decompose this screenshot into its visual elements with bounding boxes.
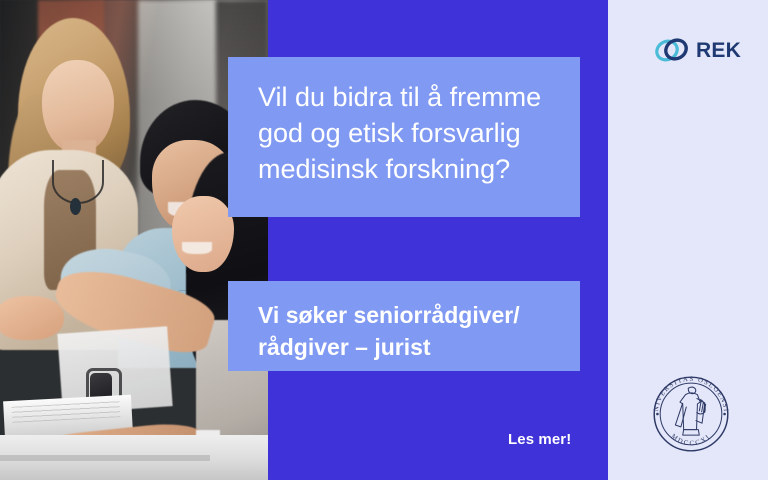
svg-text:UNIVERSITAS OSLOENSIS: UNIVERSITAS OSLOENSIS [645,368,729,413]
uio-seal-icon[interactable]: UNIVERSITAS OSLOENSIS MDCCCXI [645,368,737,460]
headline-line-2: god og etisk forsvarlig [258,115,554,151]
photo-woman-dark-smile [182,242,212,254]
photo-pointing-hand [0,296,64,340]
headline-line-1: Vil du bidra til å fremme [258,79,554,115]
photo-woman-blonde-face [42,60,114,152]
rek-rings-icon [652,30,692,70]
photo-desk-edge [0,455,210,461]
photo-necklace [52,160,104,204]
recruitment-banner: REK UNIVERSITAS OSLOENSIS MDCCCXI Vi [0,0,768,480]
subheadline-box: Vi søker seniorrådgiver/ rådgiver – juri… [228,281,580,371]
headline-line-3: medisinsk forskning? [258,151,554,187]
rek-logo-text: REK [696,40,741,61]
rek-logo[interactable]: REK [652,30,736,70]
subheadline-line-2: rådgiver – jurist [258,331,554,363]
headline-box: Vil du bidra til å fremme god og etisk f… [228,57,580,217]
subheadline-line-1: Vi søker seniorrådgiver/ [258,299,554,331]
photo-woman-dark-face [172,196,234,272]
photo-necklace-pendant [70,198,81,215]
read-more-link[interactable]: Les mer! [508,431,571,448]
